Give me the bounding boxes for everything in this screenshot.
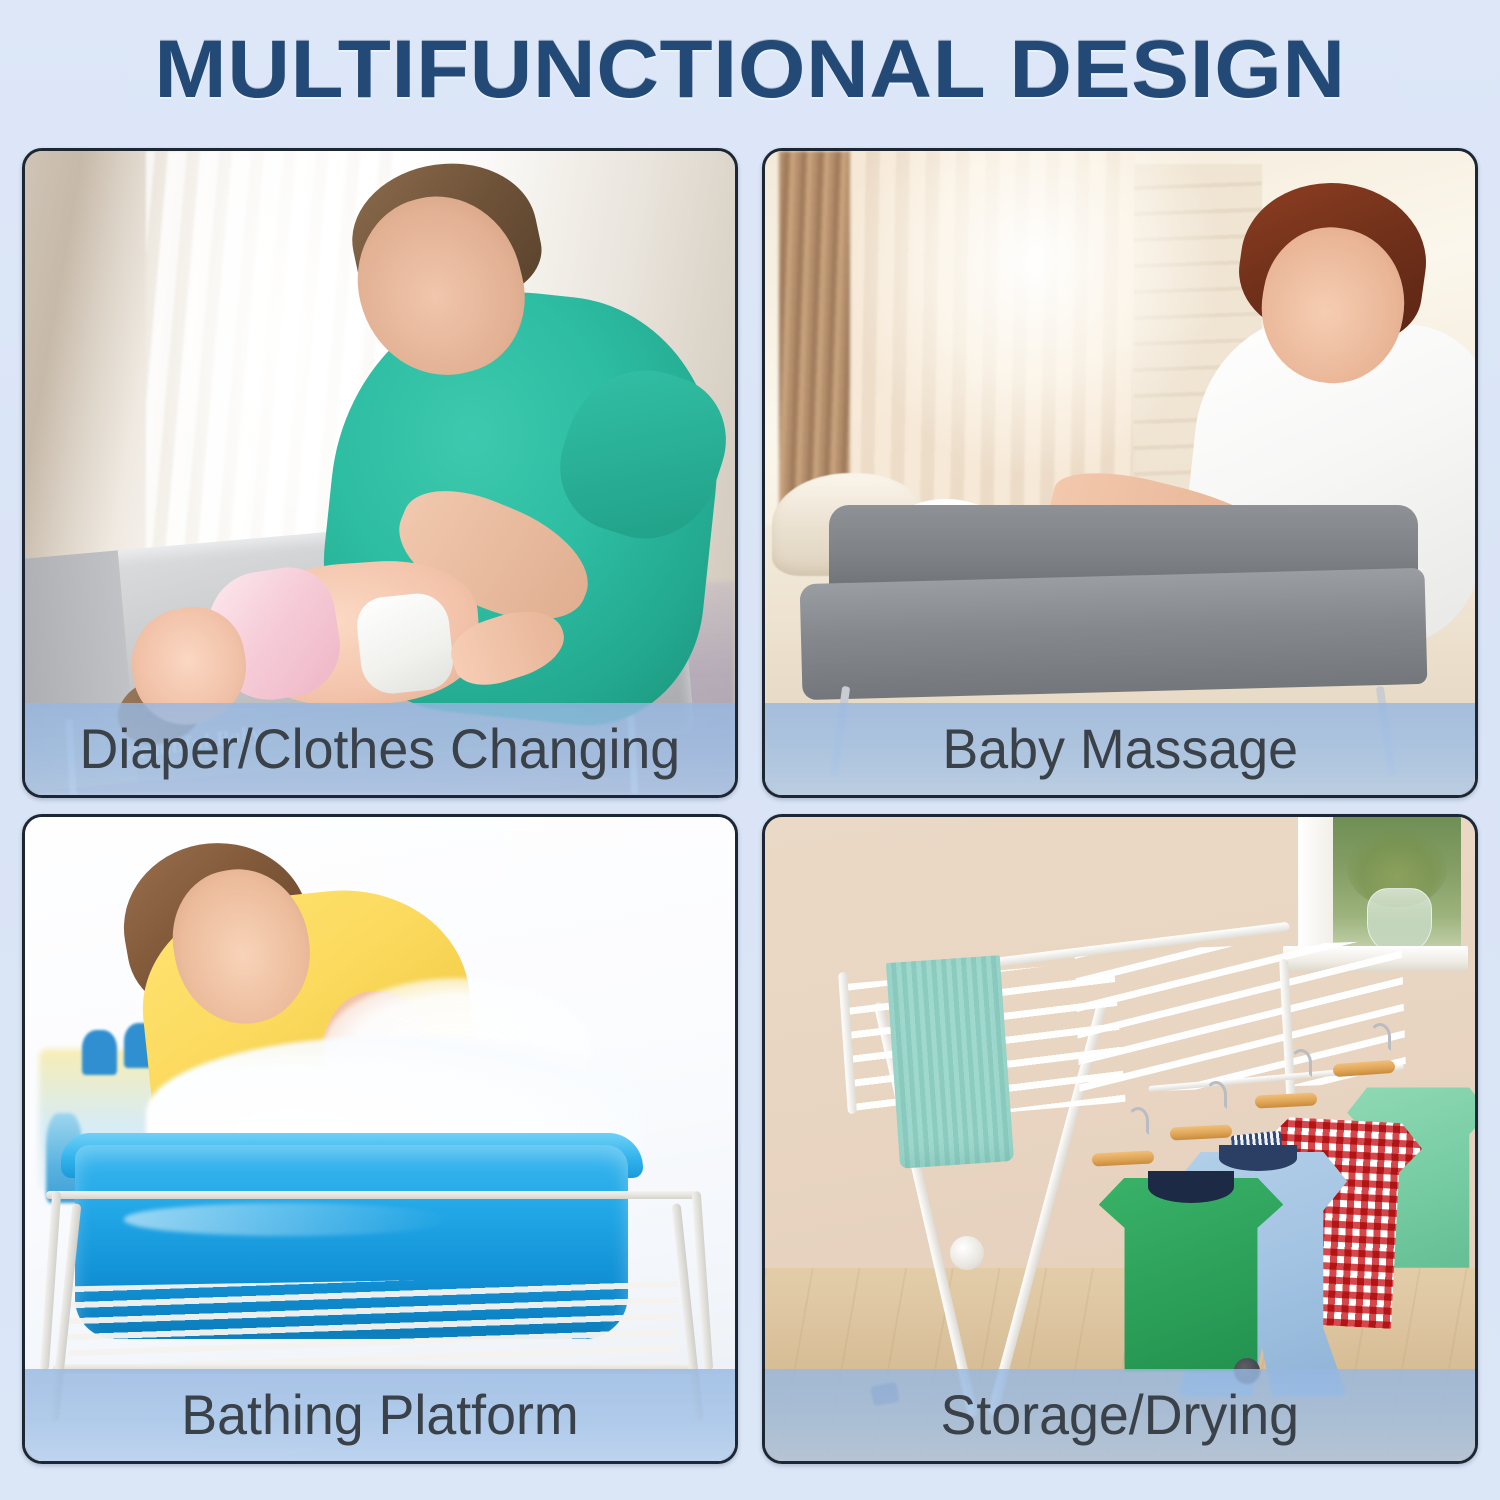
caption-label: Bathing Platform [181,1387,578,1443]
panel-caption-bar: Baby Massage [765,703,1475,795]
hanger-hook-icon [1290,1049,1312,1077]
panel-baby-massage[interactable]: Baby Massage [762,148,1478,798]
scene-bathing-platform [25,817,735,1461]
page-title: MULTIFUNCTIONAL DESIGN [154,29,1345,111]
hanger-hook-icon [1127,1107,1149,1135]
changing-table-front [799,568,1427,700]
hanger-hook-icon [1369,1023,1391,1051]
panel-diaper-clothes-changing[interactable]: Beautiful Baby Diaper/Clothes Changing [22,148,738,798]
caption-label: Diaper/Clothes Changing [80,721,681,777]
panel-caption-bar: Storage/Drying [765,1369,1475,1461]
clothing-shirt-green [1099,1178,1284,1371]
scene-diaper-clothes-changing: Beautiful Baby [25,151,735,795]
panel-caption-bar: Diaper/Clothes Changing [25,703,735,795]
scene-storage-drying [765,817,1475,1461]
frame-support-bars [67,1275,679,1376]
window-light [850,151,1219,473]
hanger-hook-icon [1205,1081,1227,1109]
panel-bathing-platform[interactable]: Bathing Platform [22,814,738,1464]
caption-label: Baby Massage [942,721,1298,777]
baby-diaper [354,591,456,697]
rack-hinge [950,1236,984,1270]
header: MULTIFUNCTIONAL DESIGN [0,0,1500,140]
window-frame [1298,817,1334,959]
caption-label: Storage/Drying [941,1387,1300,1443]
panel-caption-bar: Bathing Platform [25,1369,735,1461]
bathtub-highlight [124,1203,451,1235]
clothing-shirt-collar [1148,1171,1233,1203]
scene-baby-massage [765,151,1475,795]
feature-grid: Beautiful Baby Diaper/Clothes Changing [22,148,1478,1464]
hanging-towel [886,955,1014,1169]
frame-top-bar [46,1191,699,1199]
bath-toy-left [82,1030,118,1075]
panel-storage-drying[interactable]: Storage/Drying [762,814,1478,1464]
